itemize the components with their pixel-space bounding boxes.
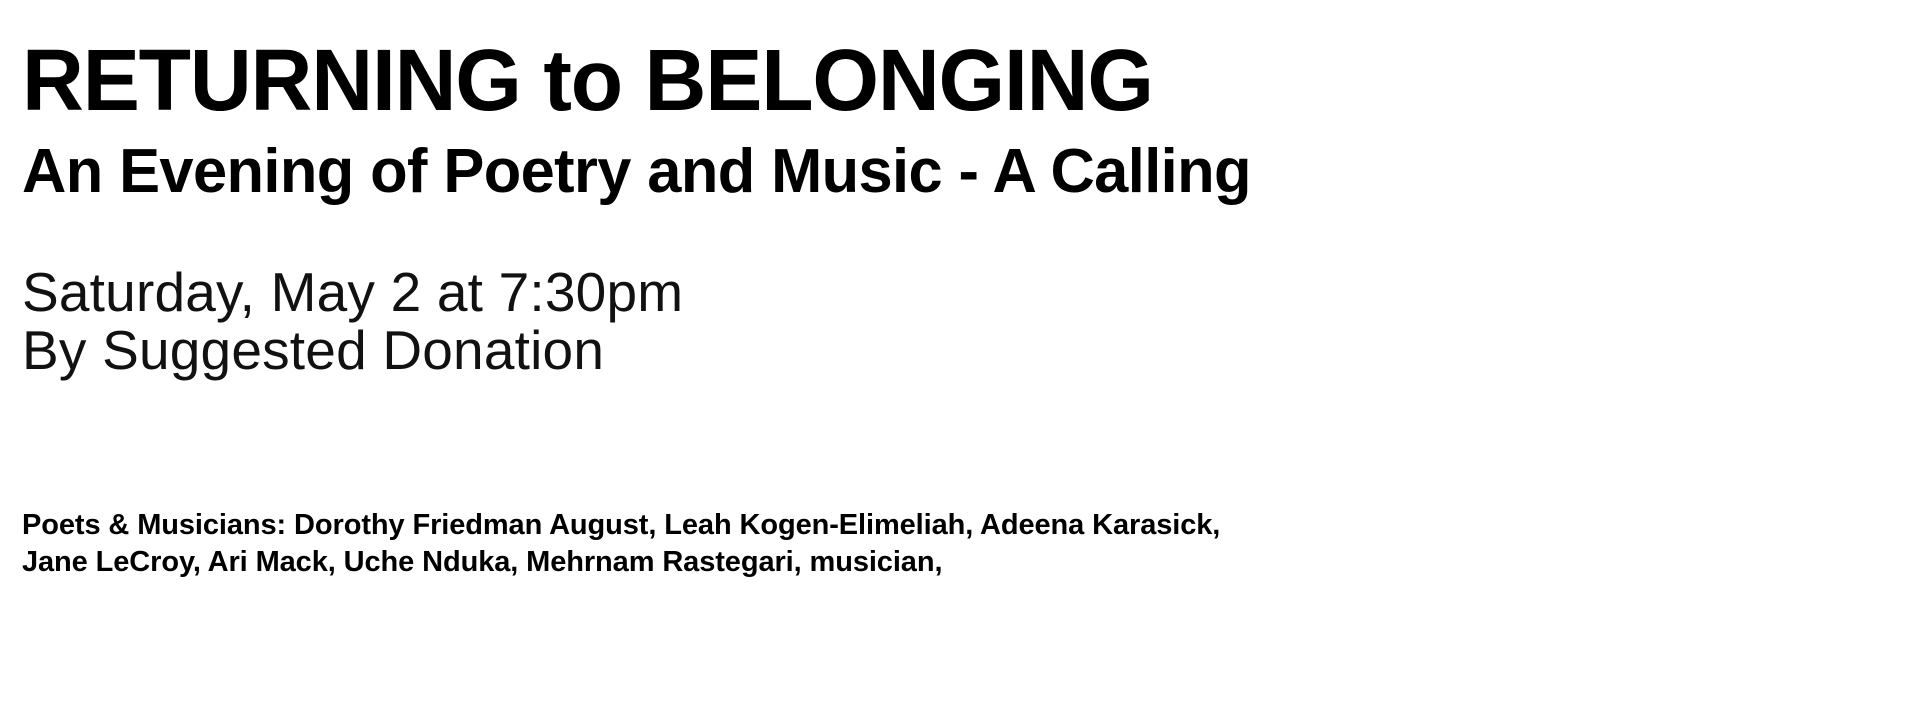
event-announcement-page: RETURNING to BELONGING An Evening of Poe… [0,0,1920,705]
performers-line-1: Poets & Musicians: Dorothy Friedman Augu… [22,507,1702,544]
page-title: RETURNING to BELONGING [22,37,1153,124]
performers-line-2: Jane LeCroy, Ari Mack, Uche Nduka, Mehrn… [22,544,1702,581]
event-date-time: Saturday, May 2 at 7:30pm [22,263,683,321]
page-subtitle: An Evening of Poetry and Music - A Calli… [22,141,1251,203]
event-admission: By Suggested Donation [22,321,683,379]
performers-block: Poets & Musicians: Dorothy Friedman Augu… [22,507,1702,581]
event-details-block: Saturday, May 2 at 7:30pm By Suggested D… [22,263,683,379]
